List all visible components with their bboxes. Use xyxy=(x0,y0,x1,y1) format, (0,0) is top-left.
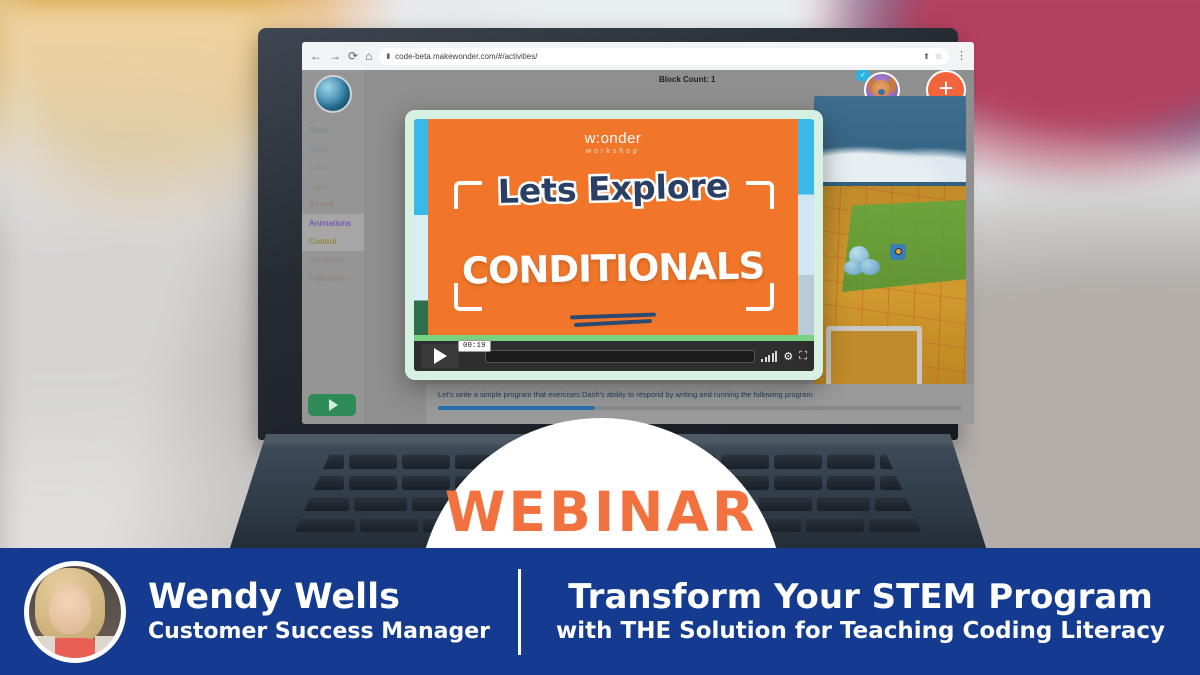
video-topic: CONDITIONALS xyxy=(428,244,799,293)
sim-target-cube xyxy=(890,244,906,260)
logo-main-text: w:onder xyxy=(428,130,798,147)
title-line-2: with THE Solution for Teaching Coding Li… xyxy=(535,618,1186,644)
corner-bracket-bottom-right-icon xyxy=(746,283,774,311)
lesson-text: Let's write a simple program that exerci… xyxy=(438,390,962,399)
block-category-sidebar: Start Drive Look Light Sound Animations … xyxy=(302,70,364,424)
video-controls: 00:19 ⚙ ⛶ xyxy=(414,341,814,371)
video-inner: w:onder workshop Lets Explore CONDITIONA… xyxy=(414,119,814,371)
video-overlay[interactable]: w:onder workshop Lets Explore CONDITIONA… xyxy=(405,110,823,380)
webinar-label: WEBINAR xyxy=(445,480,758,544)
sidebar-item-sound[interactable]: Sound xyxy=(302,195,364,214)
speaker-role: Customer Success Manager xyxy=(148,619,490,644)
robot-simulation-stage[interactable] xyxy=(814,96,966,400)
webinar-title: Transform Your STEM Program with THE Sol… xyxy=(521,579,1200,644)
home-icon[interactable]: ⌂ xyxy=(365,50,372,62)
video-play-button[interactable] xyxy=(421,344,459,368)
video-bg-left xyxy=(414,119,428,371)
dash-robot xyxy=(844,246,886,276)
back-icon[interactable]: ← xyxy=(310,50,322,62)
lesson-progress-bar[interactable] xyxy=(438,406,962,410)
title-line-1: Transform Your STEM Program xyxy=(535,579,1186,616)
sidebar-item-animations[interactable]: Animations xyxy=(302,214,364,233)
sidebar-item-functions[interactable]: Functions xyxy=(302,269,364,288)
fullscreen-icon[interactable]: ⛶ xyxy=(799,350,807,363)
video-headline: Lets Explore xyxy=(428,164,799,213)
corner-bracket-top-right-icon xyxy=(746,181,774,209)
video-bg-right xyxy=(798,119,814,371)
address-bar[interactable]: ▮ code-beta.makewonder.com/#/activities/… xyxy=(379,48,949,65)
sim-snow-hills xyxy=(814,140,966,182)
share-icon[interactable]: ⬆ xyxy=(923,52,930,61)
sidebar-item-control[interactable]: Control xyxy=(302,232,364,251)
bookmark-icon[interactable]: ☆ xyxy=(935,52,942,61)
browser-menu-icon[interactable]: ⋮ xyxy=(956,53,966,60)
video-title-card: w:onder workshop Lets Explore CONDITIONA… xyxy=(428,119,798,335)
underline-stroke-2 xyxy=(574,319,652,327)
robot-avatar-icon[interactable] xyxy=(314,75,352,113)
speaker-name: Wendy Wells xyxy=(148,579,490,616)
url-text: code-beta.makewonder.com/#/activities/ xyxy=(395,52,918,61)
forward-icon[interactable]: → xyxy=(329,50,341,62)
sidebar-item-light[interactable]: Light xyxy=(302,177,364,196)
play-icon xyxy=(434,348,447,364)
play-icon xyxy=(329,399,338,411)
lock-icon: ▮ xyxy=(386,52,390,60)
sidebar-item-look[interactable]: Look xyxy=(302,158,364,177)
sidebar-item-variables[interactable]: Variables xyxy=(302,251,364,270)
gear-icon[interactable]: ⚙ xyxy=(783,350,793,363)
volume-bars-icon[interactable] xyxy=(761,351,777,362)
browser-toolbar: ← → ⟳ ⌂ ▮ code-beta.makewonder.com/#/act… xyxy=(302,42,974,70)
sidebar-item-drive[interactable]: Drive xyxy=(302,140,364,159)
corner-bracket-top-left-icon xyxy=(454,181,482,209)
lesson-panel: Let's write a simple program that exerci… xyxy=(426,384,974,424)
avatar xyxy=(24,561,126,663)
logo-sub-text: workshop xyxy=(428,148,798,155)
video-timestamp: 00:19 xyxy=(458,340,491,352)
reload-icon[interactable]: ⟳ xyxy=(348,50,358,62)
speaker-banner: Wendy Wells Customer Success Manager Tra… xyxy=(0,548,1200,675)
run-program-button[interactable] xyxy=(308,394,356,416)
webinar-promo-graphic: ← → ⟳ ⌂ ▮ code-beta.makewonder.com/#/act… xyxy=(0,0,1200,675)
sidebar-item-start[interactable]: Start xyxy=(302,121,364,140)
app-topbar: Block Count: 1 ✓ + xyxy=(364,70,974,92)
wonder-workshop-logo: w:onder workshop xyxy=(428,130,798,155)
video-progress-bar[interactable] xyxy=(485,350,755,363)
speaker-info: Wendy Wells Customer Success Manager xyxy=(148,579,490,644)
corner-bracket-bottom-left-icon xyxy=(454,283,482,311)
block-count-label: Block Count: 1 xyxy=(659,75,715,84)
